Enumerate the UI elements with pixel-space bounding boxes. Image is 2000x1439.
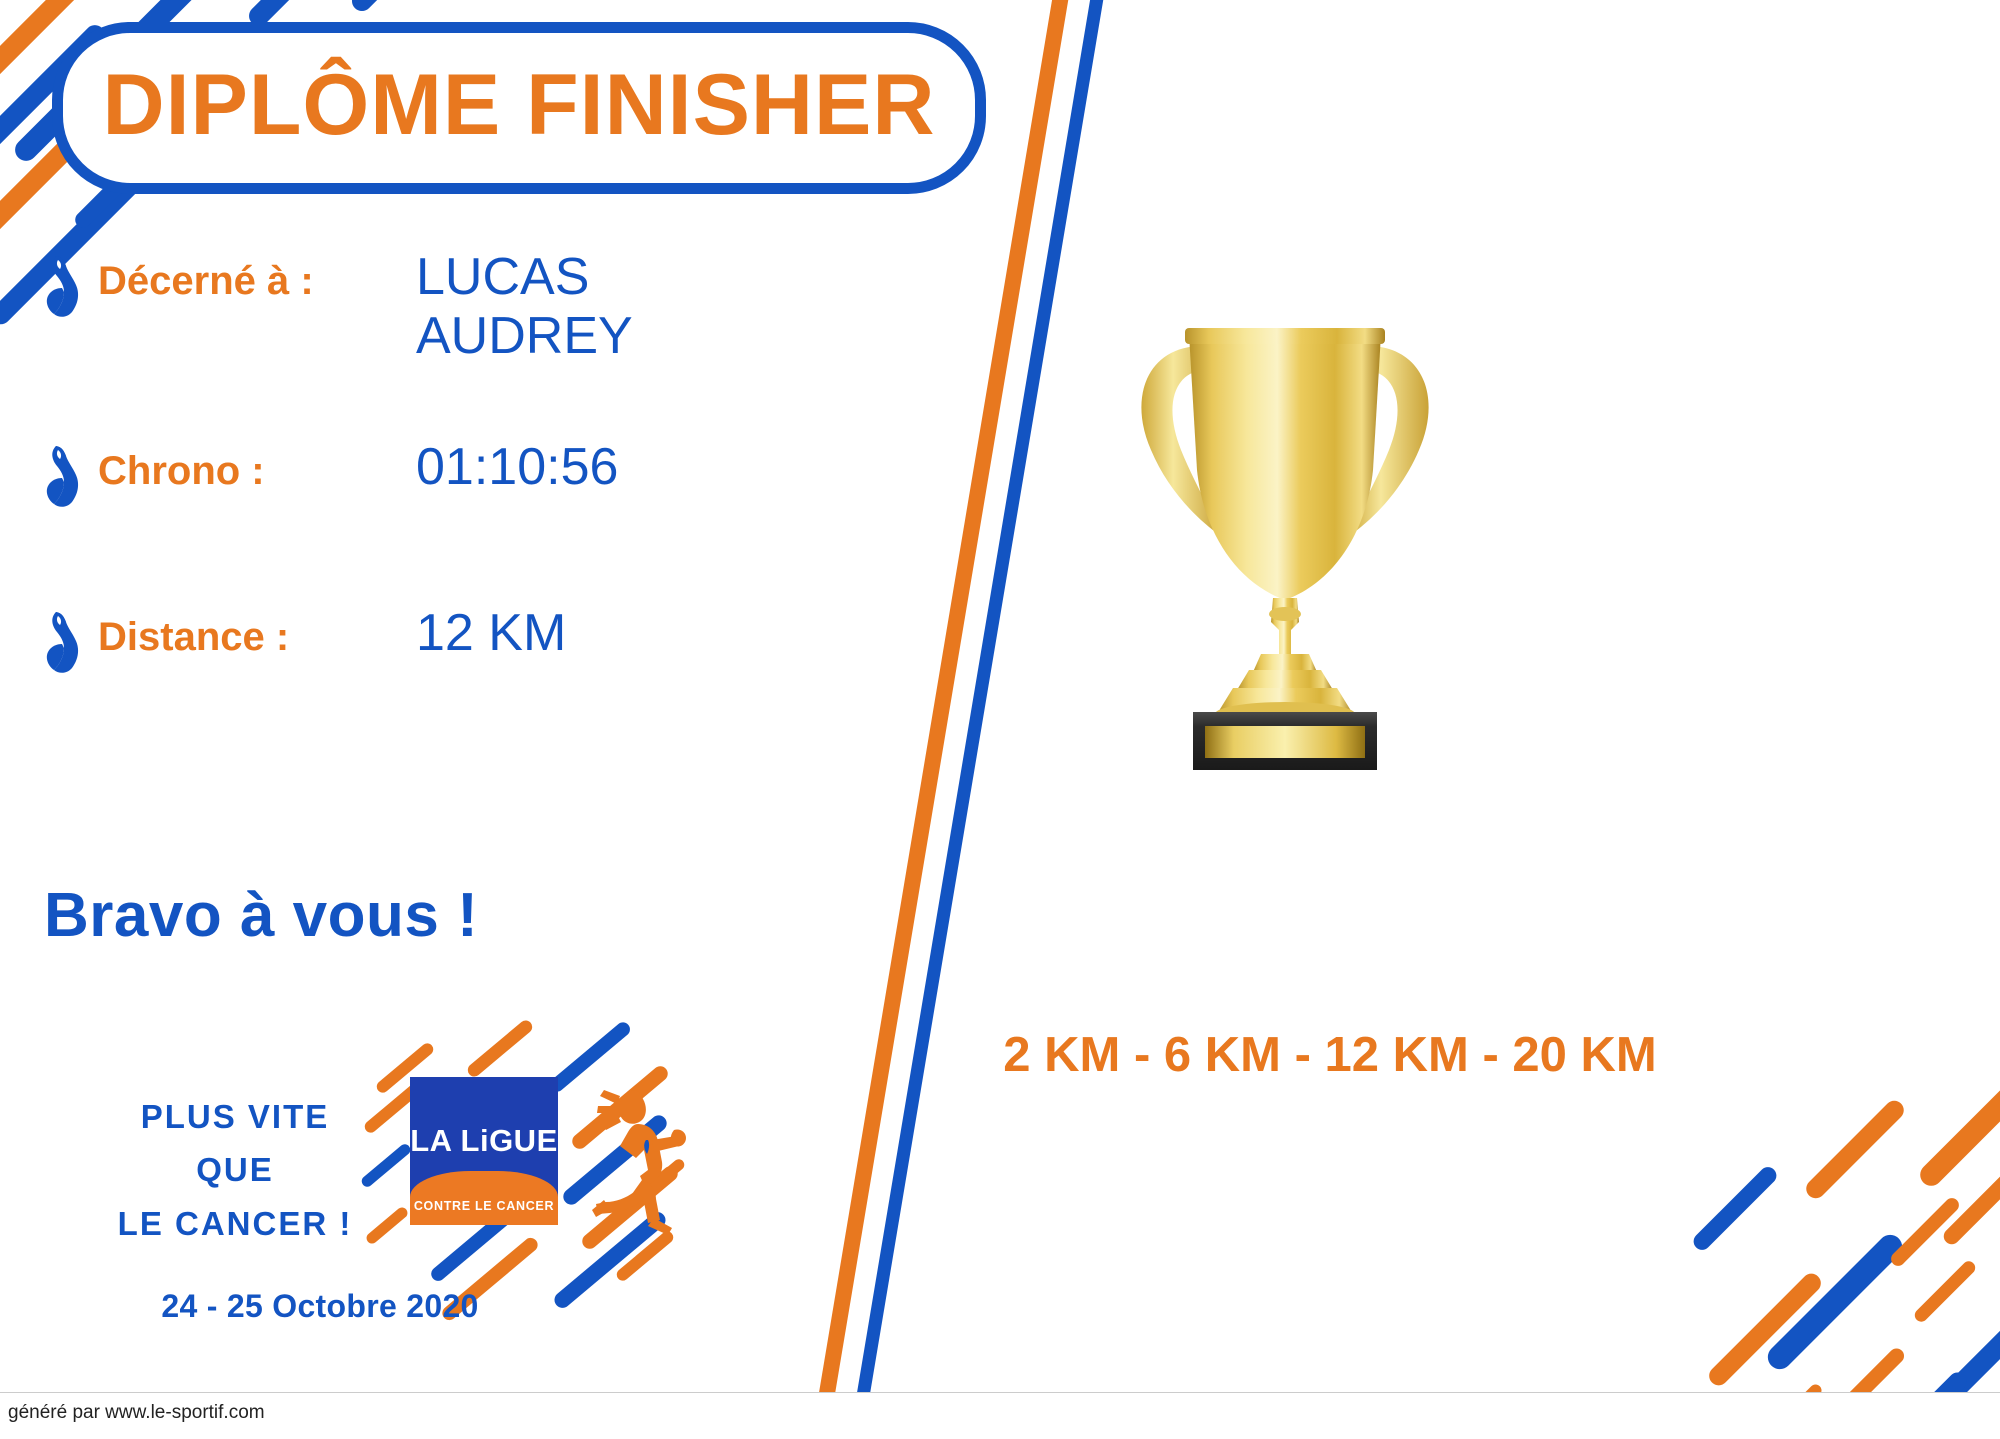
certificate-canvas: DIPLÔME FINISHER Décerné à : LUCAS AUDRE…	[0, 0, 2000, 1439]
sponsor-block: PLUS VITE QUE LE CANCER ! LA LiGUE CONTR…	[70, 1060, 710, 1390]
info-value-chrono: 01:10:56	[416, 438, 618, 497]
info-label-chrono: Chrono :	[98, 438, 398, 492]
info-label-distance: Distance :	[98, 604, 398, 658]
footer-bar	[0, 1392, 2000, 1439]
title-pill: DIPLÔME FINISHER	[52, 22, 986, 194]
ligue-logo: LA LiGUE CONTRE LE CANCER	[410, 1077, 558, 1225]
event-date: 24 - 25 Octobre 2020	[70, 1288, 570, 1325]
congratulation-text: Bravo à vous !	[44, 880, 478, 951]
info-value-distance: 12 KM	[416, 604, 566, 663]
info-row-distance: Distance : 12 KM	[40, 604, 880, 674]
footer-generated-by: généré par www.le-sportif.com	[8, 1402, 265, 1424]
decor-stripe	[1912, 1259, 1978, 1325]
decor-stripe	[1802, 1097, 1907, 1202]
info-list: Décerné à : LUCAS AUDREY Chrono : 01:10:…	[40, 248, 880, 674]
decor-stripe	[348, 0, 482, 15]
ligue-logo-subtitle: CONTRE LE CANCER	[410, 1199, 558, 1213]
ligue-logo-word: LA LiGUE	[410, 1123, 558, 1159]
decor-stripe	[1916, 1062, 2000, 1191]
decor-stripe	[1690, 1164, 1780, 1254]
sponsor-slogan: PLUS VITE QUE LE CANCER !	[95, 1090, 375, 1250]
decor-stripe	[465, 1018, 535, 1079]
info-label-recipient: Décerné à :	[98, 248, 398, 302]
runner-icon	[590, 1080, 700, 1235]
info-value-recipient: LUCAS AUDREY	[416, 248, 633, 366]
divider-stripe-blue	[828, 0, 1121, 1439]
gold-trophy-icon	[1085, 270, 1485, 770]
distances-list: 2 KM - 6 KM - 12 KM - 20 KM	[930, 1027, 1730, 1083]
info-row-chrono: Chrono : 01:10:56	[40, 438, 880, 508]
ligue-logo-bottom	[410, 1171, 558, 1225]
ribbon-icon	[40, 252, 84, 322]
ribbon-icon	[40, 608, 84, 678]
divider-stripe-orange	[790, 0, 1086, 1439]
ribbon-icon	[40, 442, 84, 512]
page-title: DIPLÔME FINISHER	[102, 62, 935, 148]
info-row-recipient: Décerné à : LUCAS AUDREY	[40, 248, 880, 366]
